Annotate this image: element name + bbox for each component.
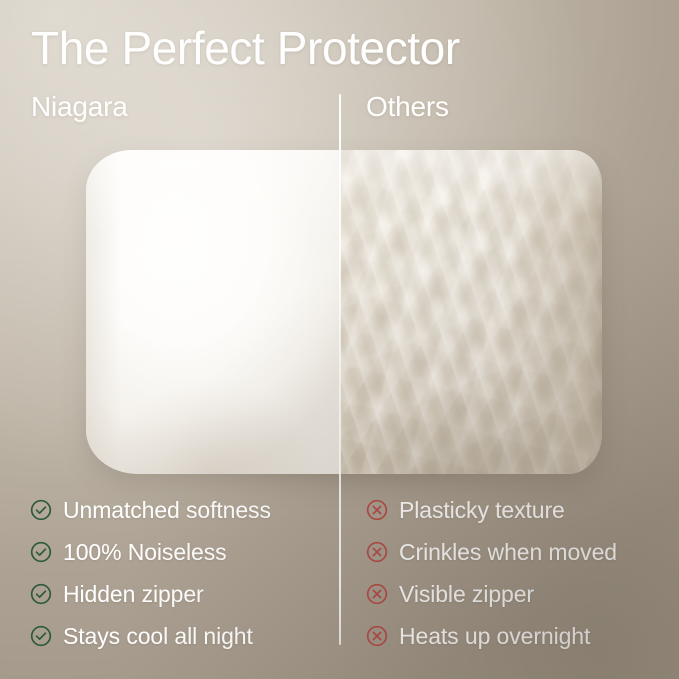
check-circle-icon <box>30 583 52 605</box>
list-item: Hidden zipper <box>30 573 271 615</box>
pillow-half-niagara <box>86 150 340 474</box>
check-circle-icon <box>30 541 52 563</box>
comparison-infographic: The Perfect Protector Niagara Others Unm… <box>0 0 679 679</box>
list-item-label: Visible zipper <box>399 581 534 607</box>
x-circle-icon <box>366 583 388 605</box>
x-circle-icon <box>366 625 388 647</box>
check-circle-icon <box>30 499 52 521</box>
list-item: Stays cool all night <box>30 615 271 657</box>
column-label-others: Others <box>366 90 449 124</box>
list-item: Heats up overnight <box>366 615 617 657</box>
check-circle-icon <box>30 625 52 647</box>
x-circle-icon <box>366 541 388 563</box>
pros-list: Unmatched softness 100% Noiseless Hidden… <box>30 489 271 657</box>
list-item: 100% Noiseless <box>30 531 271 573</box>
x-circle-icon <box>366 499 388 521</box>
wrinkle-texture-secondary <box>340 150 602 474</box>
column-divider <box>339 94 341 645</box>
list-item: Unmatched softness <box>30 489 271 531</box>
list-item: Visible zipper <box>366 573 617 615</box>
cons-list: Plasticky texture Crinkles when moved Vi… <box>366 489 617 657</box>
list-item-label: Crinkles when moved <box>399 539 617 565</box>
list-item-label: Plasticky texture <box>399 497 565 523</box>
pillow-half-others <box>340 150 602 474</box>
list-item-label: Stays cool all night <box>63 623 253 649</box>
page-title: The Perfect Protector <box>31 21 460 75</box>
column-label-niagara: Niagara <box>31 90 128 124</box>
list-item: Crinkles when moved <box>366 531 617 573</box>
pillow-comparison-image <box>86 150 602 474</box>
list-item-label: Heats up overnight <box>399 623 590 649</box>
wrinkle-texture-primary <box>340 150 602 474</box>
list-item-label: 100% Noiseless <box>63 539 227 565</box>
list-item: Plasticky texture <box>366 489 617 531</box>
list-item-label: Hidden zipper <box>63 581 204 607</box>
list-item-label: Unmatched softness <box>63 497 271 523</box>
